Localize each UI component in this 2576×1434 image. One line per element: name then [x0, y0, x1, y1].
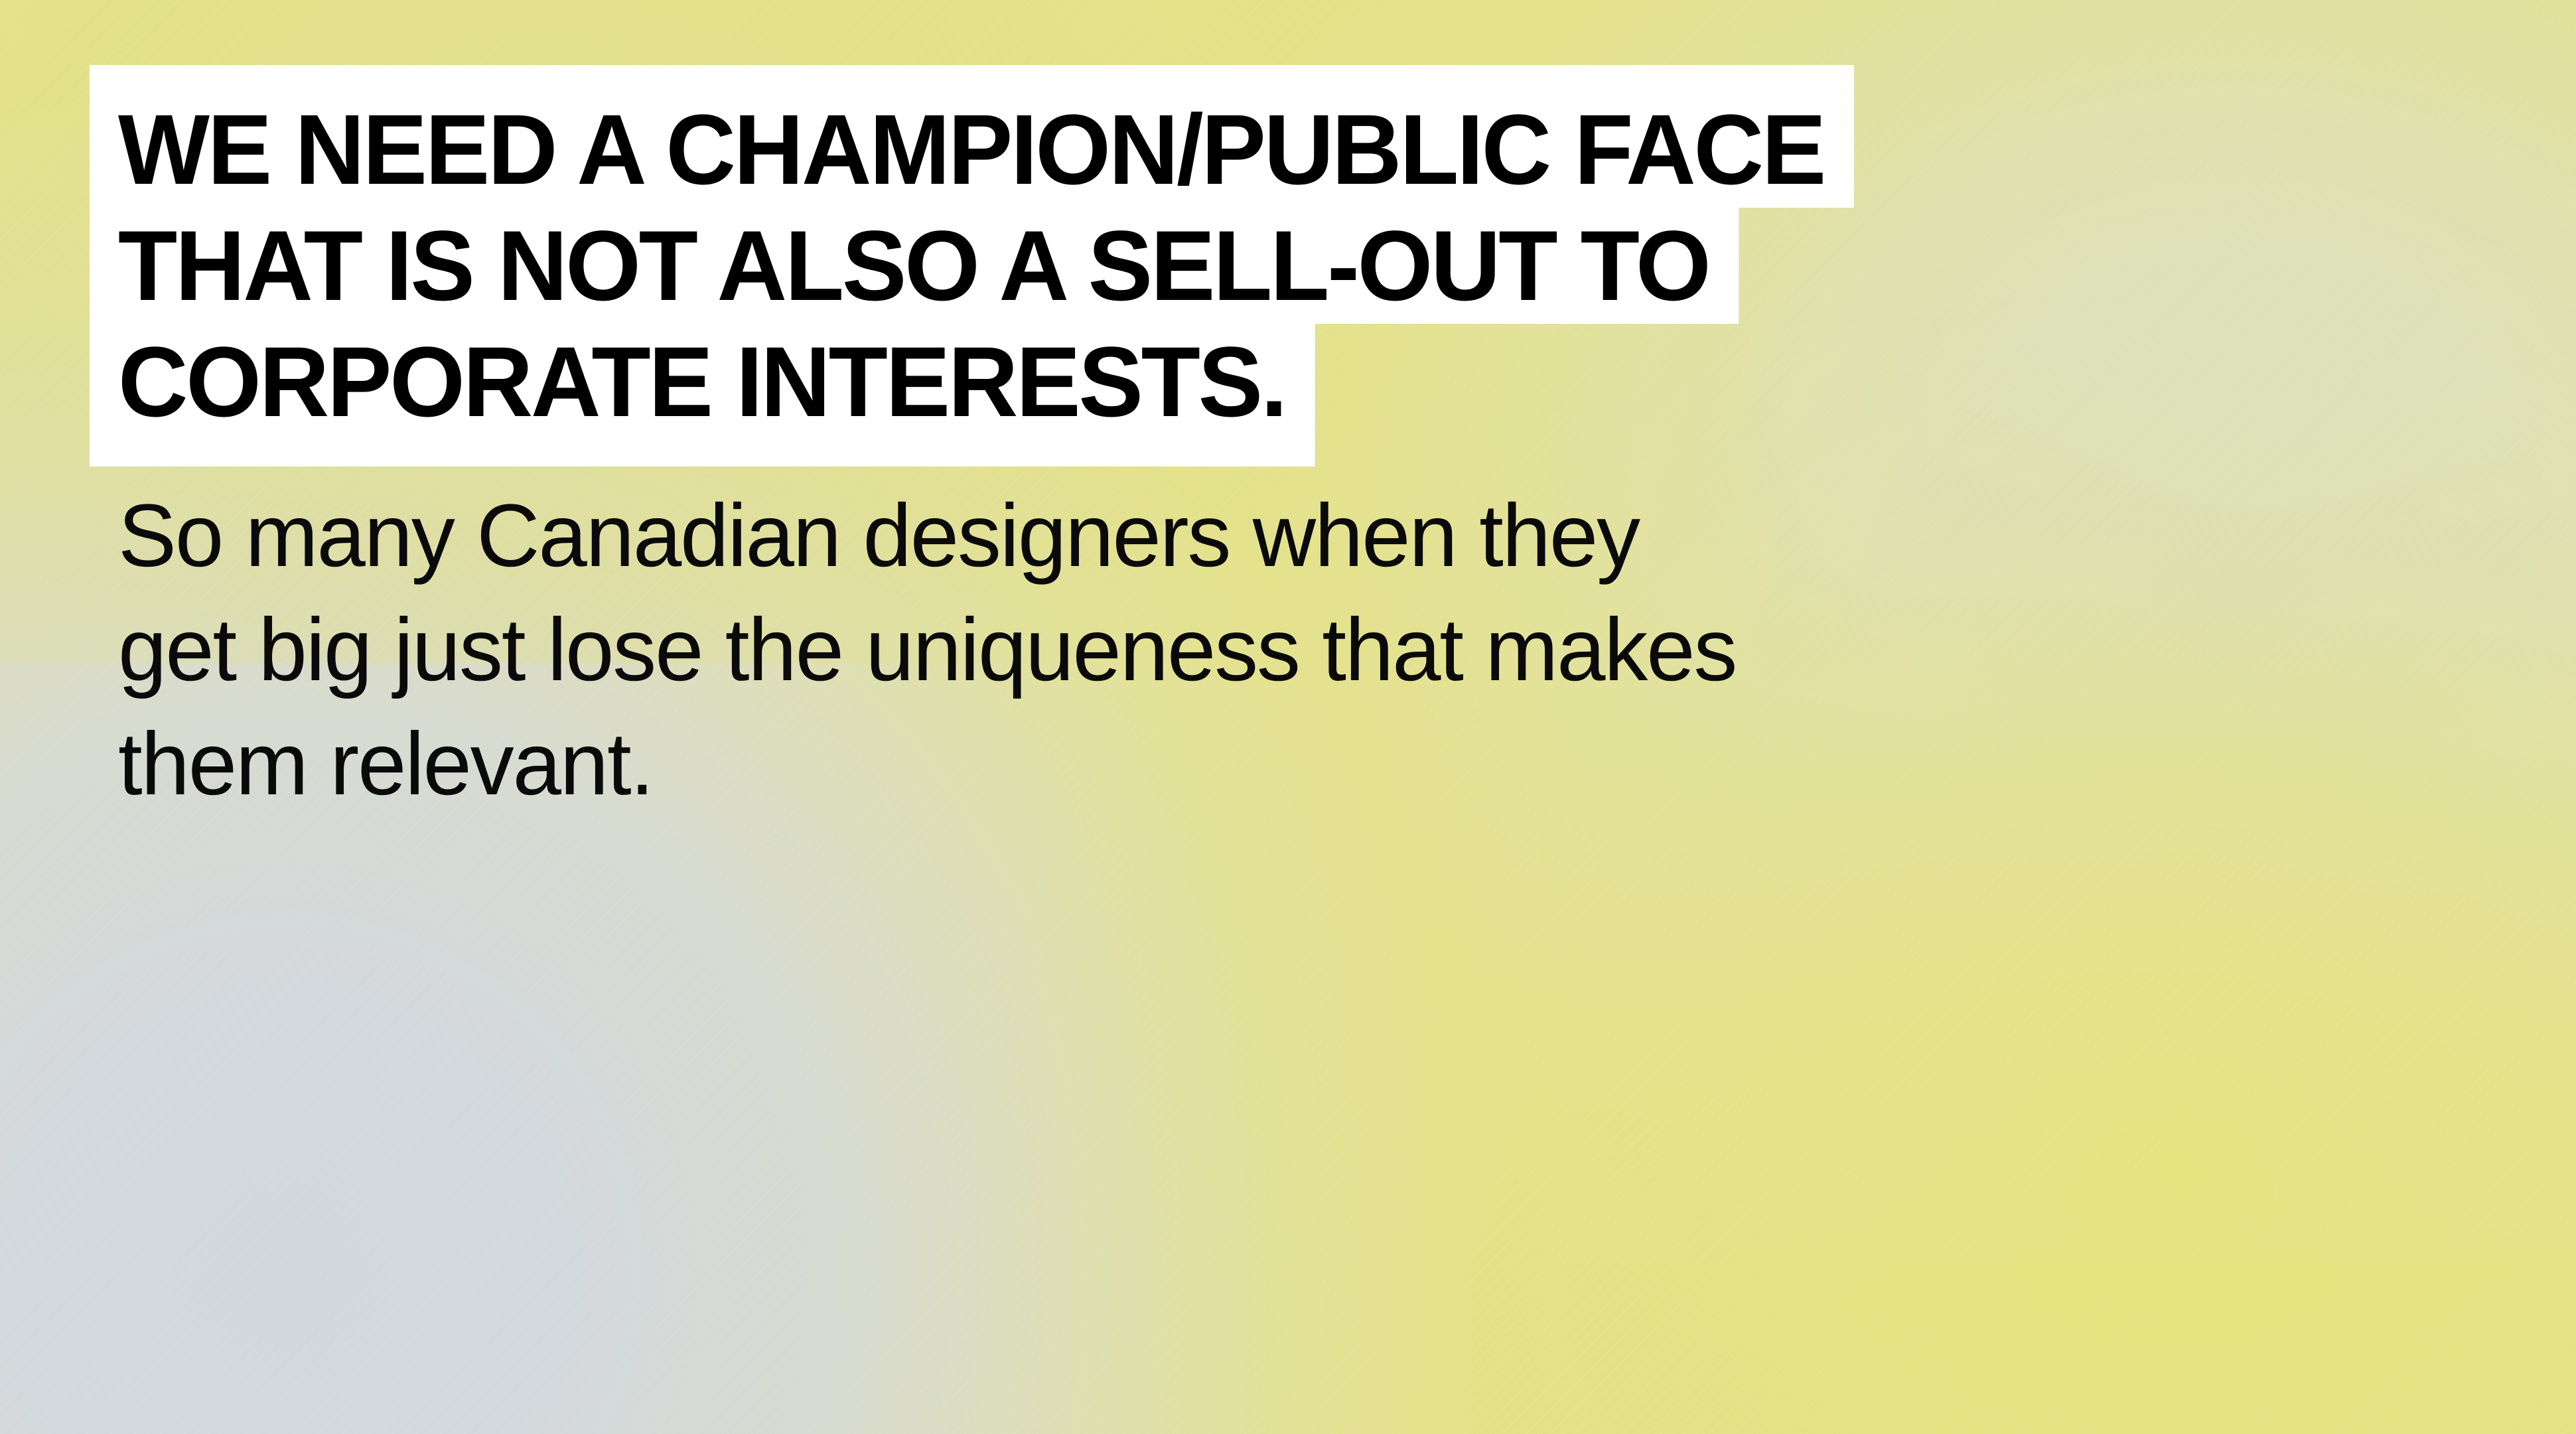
headline-block: WE NEED A CHAMPION/PUBLIC FACE THAT IS N…	[90, 65, 2213, 466]
body-paragraph: So many Canadian designers when they get…	[118, 479, 2109, 822]
headline-line-2: THAT IS NOT ALSO A SELL-OUT TO	[90, 208, 1739, 324]
slide-content: WE NEED A CHAMPION/PUBLIC FACE THAT IS N…	[0, 0, 2576, 1434]
headline-line-3: CORPORATE INTERESTS.	[90, 324, 1315, 466]
body-line-3: them relevant.	[118, 707, 2079, 822]
body-line-2: get big just lose the uniqueness that ma…	[118, 593, 2079, 707]
slide-canvas: WE NEED A CHAMPION/PUBLIC FACE THAT IS N…	[0, 0, 2576, 1434]
headline-line-1: WE NEED A CHAMPION/PUBLIC FACE	[90, 65, 1854, 208]
body-line-1: So many Canadian designers when they	[118, 479, 2079, 593]
